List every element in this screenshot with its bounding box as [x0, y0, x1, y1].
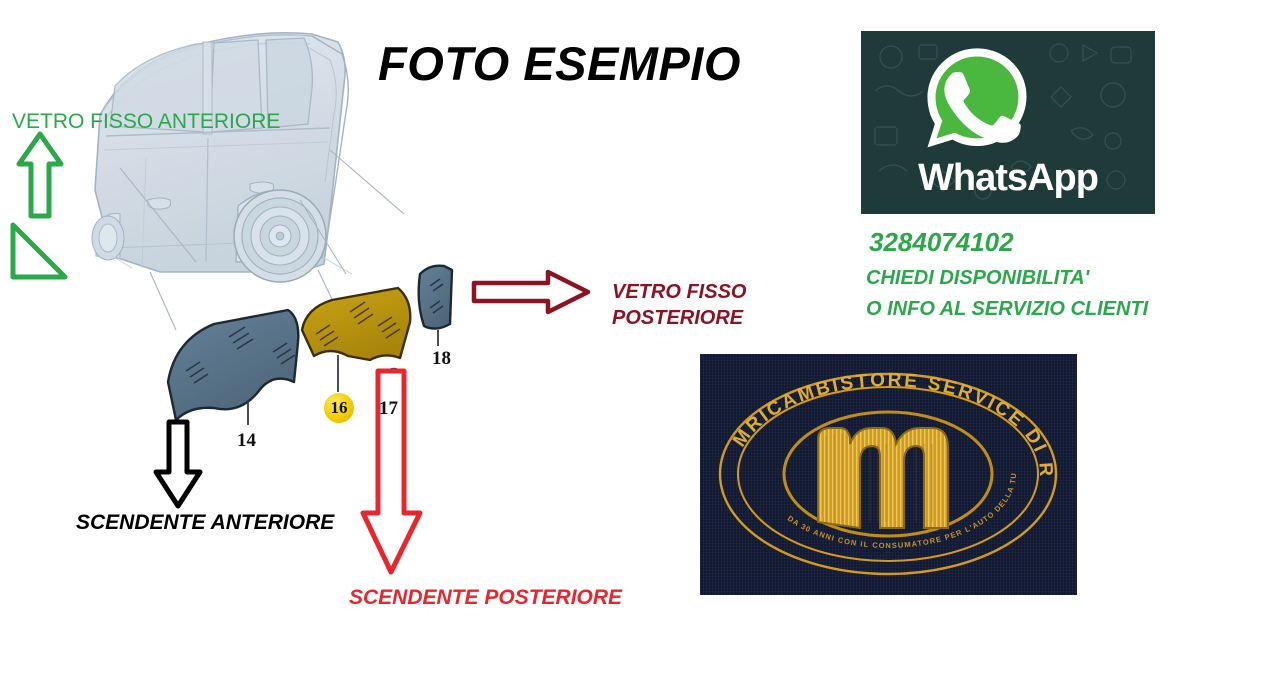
label-vetro-fisso-posteriore-line2: POSTERIORE	[612, 306, 746, 332]
whatsapp-phone-icon	[923, 43, 1031, 151]
contact-phone-number[interactable]: 3284074102	[869, 227, 1014, 258]
part-rear-quarter-glass	[419, 266, 452, 346]
label-scendente-anteriore: SCENDENTE ANTERIORE	[76, 511, 334, 535]
green-up-arrow-icon	[16, 130, 64, 220]
contact-line-2: O INFO AL SERVIZIO CLIENTI	[866, 298, 1148, 321]
whatsapp-wordmark: WhatsApp	[861, 157, 1155, 200]
part-number-18: 18	[432, 348, 451, 370]
part-number-14: 14	[237, 430, 256, 452]
label-vetro-fisso-posteriore: VETRO FISSO POSTERIORE	[612, 280, 746, 331]
screenshot-canvas: FOTO ESEMPIO VETRO FISSO ANTERIORE VETRO…	[0, 0, 1264, 678]
green-diagonal-arrow-icon	[8, 220, 70, 282]
black-down-arrow-icon	[152, 418, 204, 510]
part-number-16-badge: 16	[324, 393, 354, 423]
part-number-17: 17	[379, 398, 398, 420]
whatsapp-banner: WhatsApp	[861, 31, 1155, 214]
label-scendente-posteriore: SCENDENTE POSTERIORE	[349, 586, 622, 610]
dark-red-right-arrow-icon	[470, 268, 592, 316]
label-vetro-fisso-anteriore: VETRO FISSO ANTERIORE	[12, 110, 280, 134]
label-vetro-fisso-posteriore-line1: VETRO FISSO	[612, 280, 746, 306]
rear-wheel	[234, 190, 326, 282]
contact-line-1: CHIEDI DISPONIBILITA'	[866, 267, 1089, 290]
mricambistore-logo: MRICAMBISTORE SERVICE DI RUSSO MARCO DA …	[700, 354, 1077, 595]
page-title: FOTO ESEMPIO	[378, 36, 741, 91]
part-front-door-glass	[168, 310, 298, 425]
logo-monogram	[818, 428, 948, 528]
car-body-outline	[92, 33, 352, 282]
brand-logo-banner: MRICAMBISTORE SERVICE DI RUSSO MARCO DA …	[700, 354, 1077, 595]
